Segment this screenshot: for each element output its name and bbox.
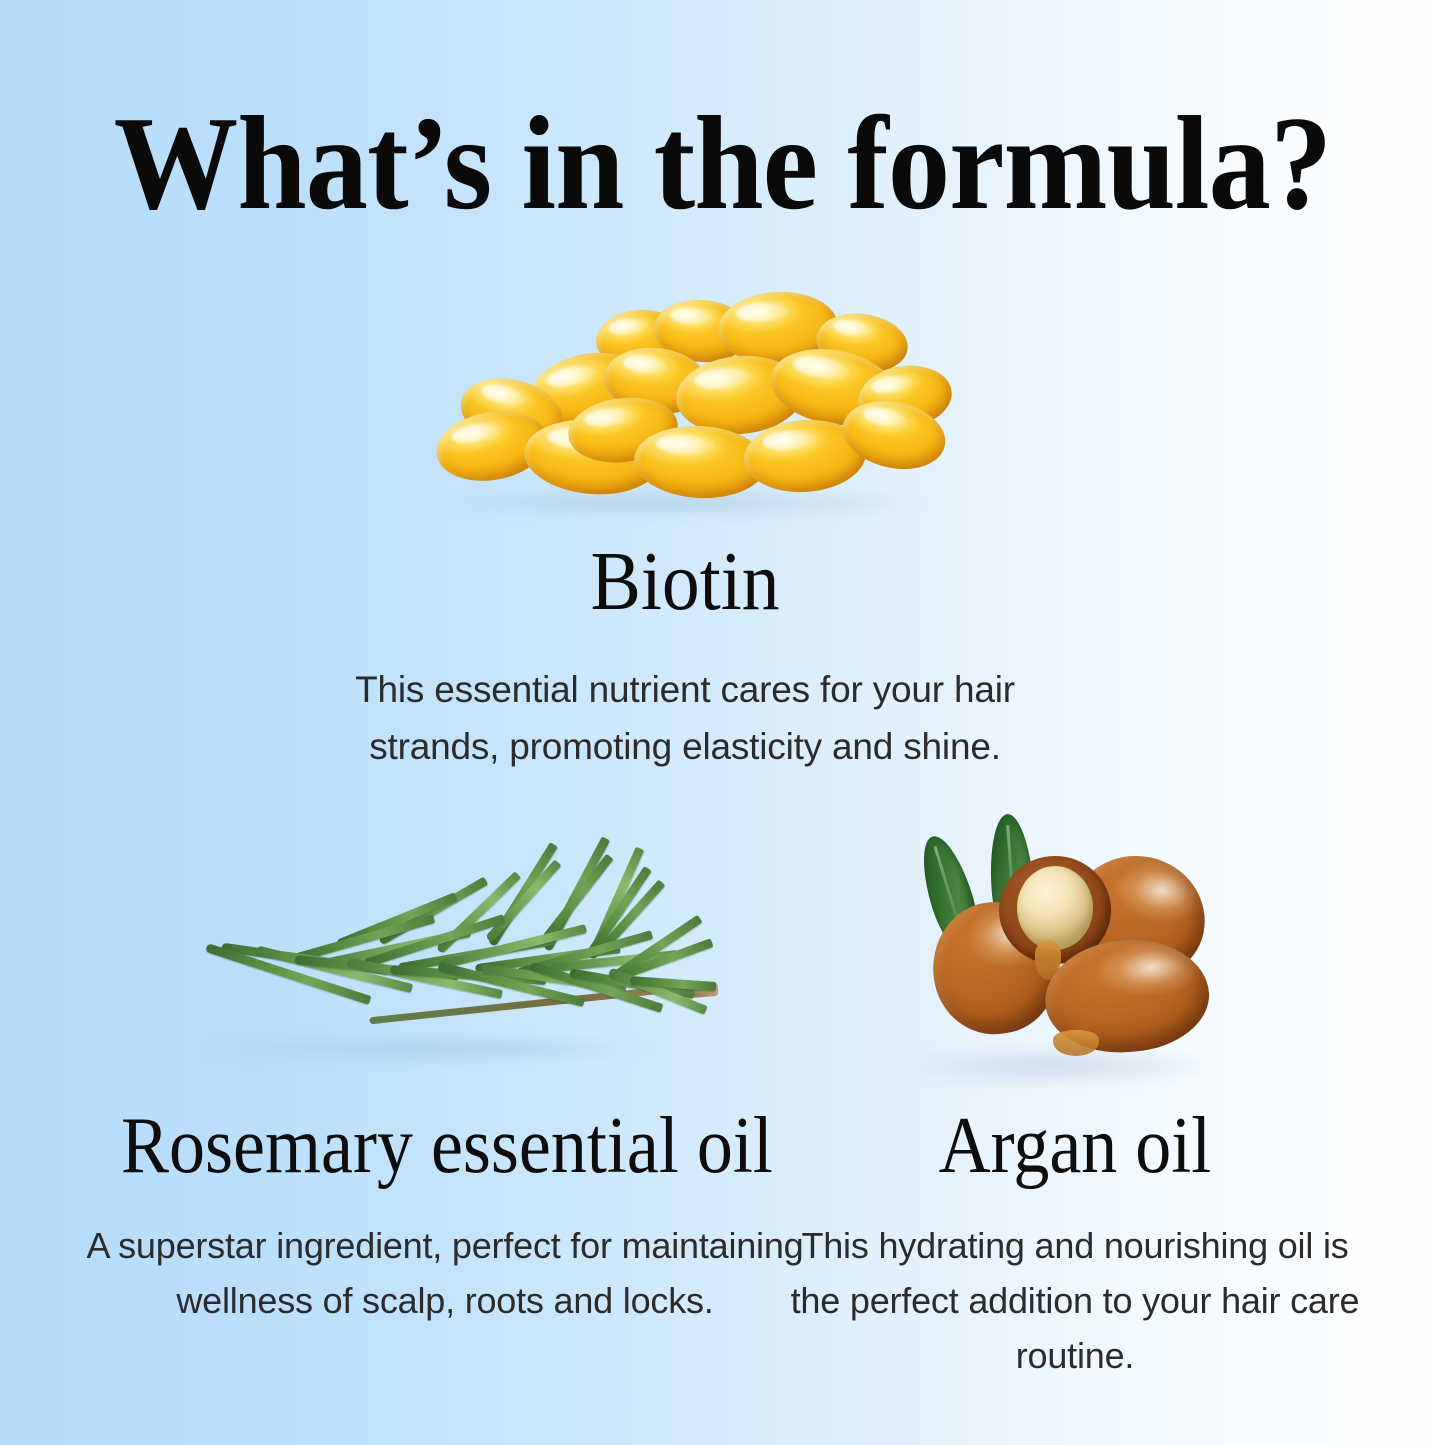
rosemary-sprig-image — [168, 818, 714, 1090]
ingredient-description-argan: This hydrating and nourishing oil is the… — [790, 1218, 1360, 1383]
argan-nuts-image — [895, 812, 1225, 1104]
ingredient-description-biotin: This essential nutrient cares for your h… — [322, 662, 1048, 775]
ingredient-card-rosemary: Rosemary essential oil A superstar ingre… — [85, 1106, 805, 1328]
ingredient-card-biotin: Biotin This essential nutrient cares for… — [322, 540, 1048, 775]
page-title: What’s in the formula? — [51, 96, 1395, 230]
ingredient-description-rosemary: A superstar ingredient, perfect for main… — [85, 1218, 805, 1328]
ingredient-name-biotin: Biotin — [358, 540, 1011, 624]
ingredient-name-rosemary: Rosemary essential oil — [121, 1106, 769, 1186]
rosemary-shadow — [208, 1036, 658, 1062]
biotin-softgel-capsules-image — [418, 292, 948, 520]
argan-shadow — [903, 1048, 1213, 1084]
argan-nut-kernel — [1017, 866, 1093, 950]
ingredient-name-argan: Argan oil — [819, 1106, 1332, 1186]
ingredient-card-argan: Argan oil This hydrating and nourishing … — [790, 1106, 1360, 1383]
